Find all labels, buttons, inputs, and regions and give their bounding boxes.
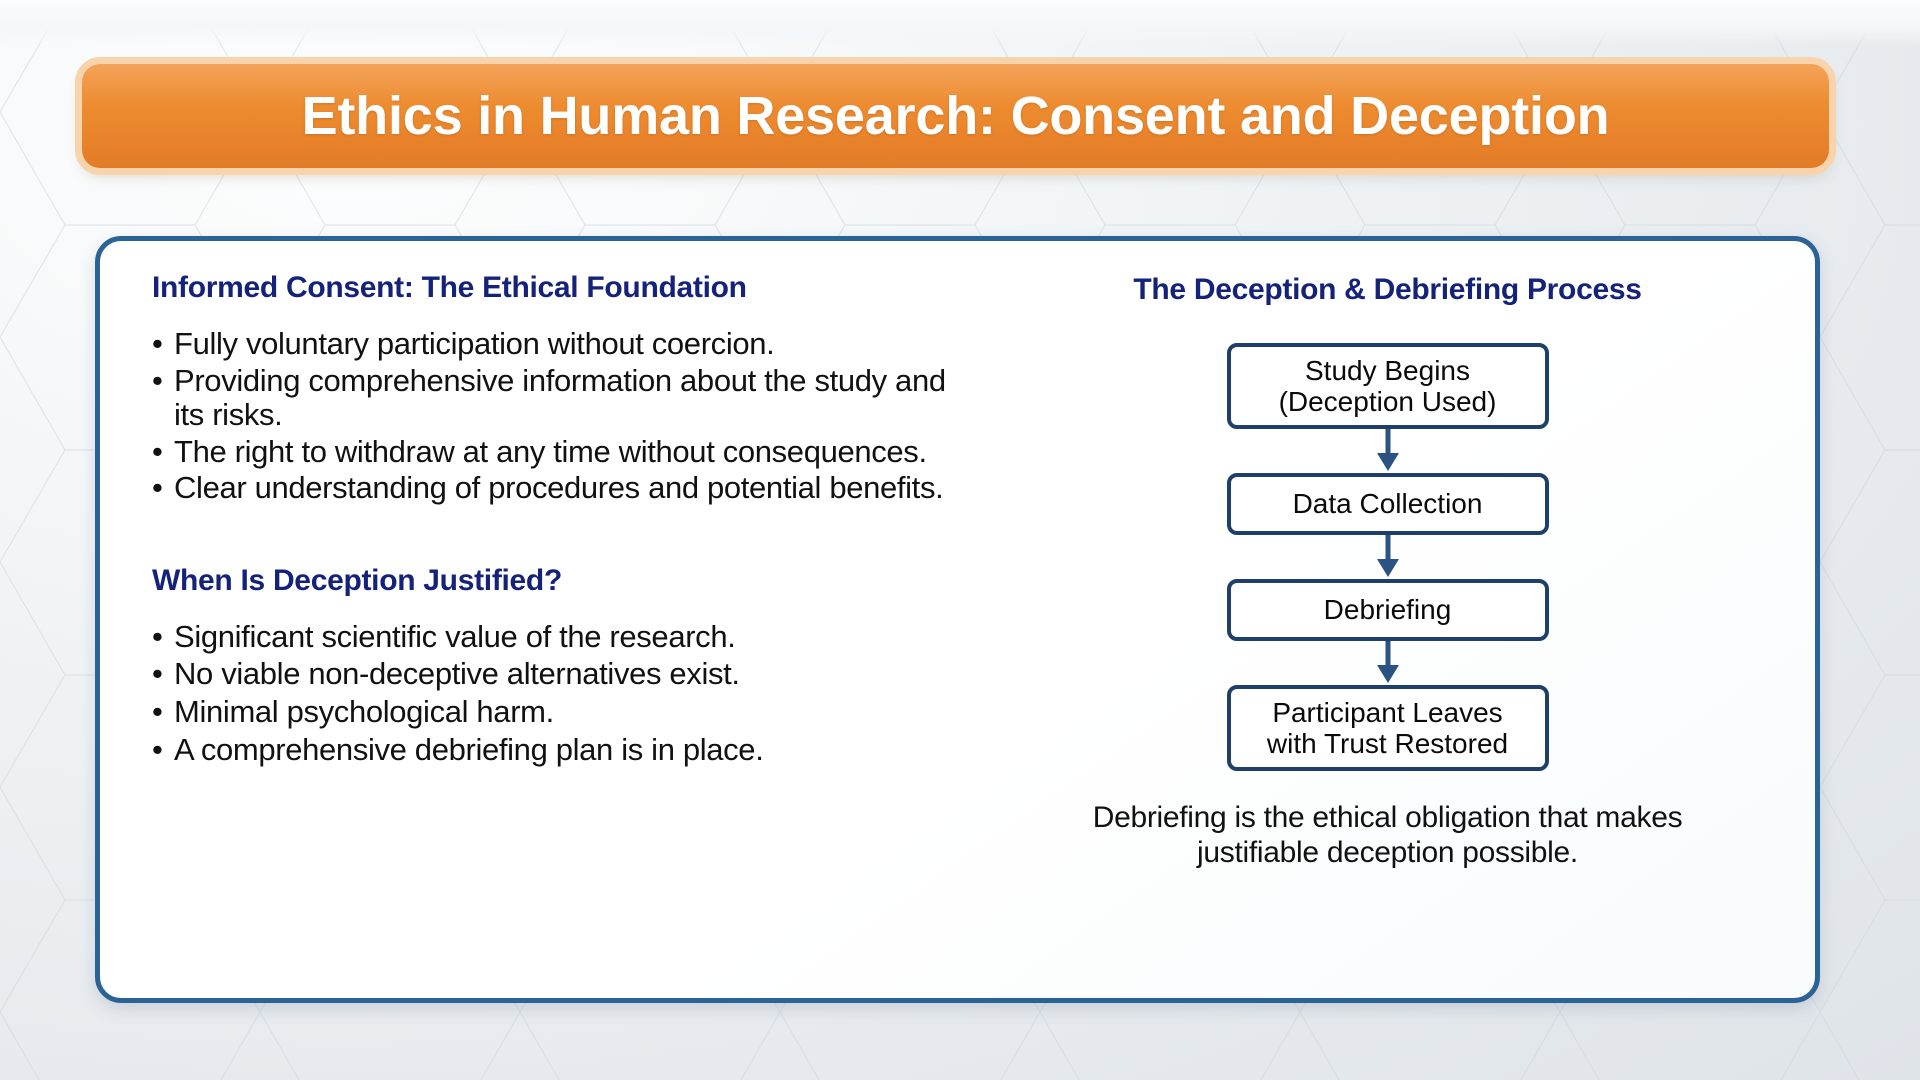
flow-step-line: Study Begins	[1239, 355, 1537, 386]
flow-step-debriefing: Debriefing	[1227, 579, 1549, 641]
deception-justified-bullet-list: • Significant scientific value of the re…	[152, 620, 954, 767]
list-item-label: No viable non-deceptive alternatives exi…	[174, 656, 740, 691]
content-card: Informed Consent: The Ethical Foundation…	[95, 236, 1820, 1003]
section-heading-deception-debriefing-process: The Deception & Debriefing Process	[1133, 273, 1641, 307]
flow-step-line: Data Collection	[1239, 488, 1537, 519]
flow-step-line: Participant Leaves	[1239, 697, 1537, 728]
list-item: • Clear understanding of procedures and …	[152, 471, 954, 506]
bullet-dot-icon: •	[152, 364, 163, 399]
list-item-label: A comprehensive debriefing plan is in pl…	[174, 732, 763, 767]
flowchart-caption: Debriefing is the ethical obligation tha…	[1068, 801, 1708, 871]
deception-debriefing-flowchart: Study Begins (Deception Used) Data Colle…	[1227, 343, 1549, 771]
list-item: • Minimal psychological harm.	[152, 695, 954, 730]
bullet-dot-icon: •	[152, 471, 163, 506]
flow-step-line: (Deception Used)	[1239, 386, 1537, 417]
section-informed-consent: Informed Consent: The Ethical Foundation…	[152, 271, 954, 506]
section-deception-justified: When Is Deception Justified? • Significa…	[152, 564, 954, 767]
informed-consent-bullet-list: • Fully voluntary participation without …	[152, 327, 954, 506]
down-arrow-icon	[1374, 429, 1402, 473]
list-item: • The right to withdraw at any time with…	[152, 435, 954, 470]
flow-step-data-collection: Data Collection	[1227, 473, 1549, 535]
background-sheen	[0, 0, 1920, 46]
section-heading-informed-consent: Informed Consent: The Ethical Foundation	[152, 271, 954, 305]
list-item-label: Significant scientific value of the rese…	[174, 619, 736, 654]
flow-step-participant-leaves: Participant Leaves with Trust Restored	[1227, 685, 1549, 771]
bullet-dot-icon: •	[152, 327, 163, 362]
right-column: The Deception & Debriefing Process Study…	[980, 241, 1815, 998]
list-item-label: Fully voluntary participation without co…	[174, 326, 774, 361]
list-item: • Significant scientific value of the re…	[152, 620, 954, 655]
left-column: Informed Consent: The Ethical Foundation…	[100, 241, 980, 998]
bullet-dot-icon: •	[152, 657, 163, 692]
flow-step-line: Debriefing	[1239, 594, 1537, 625]
down-arrow-icon	[1374, 535, 1402, 579]
list-item: • A comprehensive debriefing plan is in …	[152, 733, 954, 768]
list-item: • Fully voluntary participation without …	[152, 327, 954, 362]
list-item: • Providing comprehensive information ab…	[152, 364, 954, 433]
bullet-dot-icon: •	[152, 435, 163, 470]
list-item-label: The right to withdraw at any time withou…	[174, 434, 927, 469]
section-heading-deception-justified: When Is Deception Justified?	[152, 564, 954, 598]
list-item-label: Minimal psychological harm.	[174, 694, 554, 729]
list-item: • No viable non-deceptive alternatives e…	[152, 657, 954, 692]
bullet-dot-icon: •	[152, 733, 163, 768]
bullet-dot-icon: •	[152, 620, 163, 655]
list-item-label: Clear understanding of procedures and po…	[174, 470, 943, 505]
slide-title-banner: Ethics in Human Research: Consent and De…	[82, 64, 1829, 168]
down-arrow-icon	[1374, 641, 1402, 685]
list-item-label: Providing comprehensive information abou…	[174, 363, 946, 433]
bullet-dot-icon: •	[152, 695, 163, 730]
page-title: Ethics in Human Research: Consent and De…	[302, 85, 1610, 147]
flow-step-line: with Trust Restored	[1239, 728, 1537, 759]
flow-step-study-begins: Study Begins (Deception Used)	[1227, 343, 1549, 429]
